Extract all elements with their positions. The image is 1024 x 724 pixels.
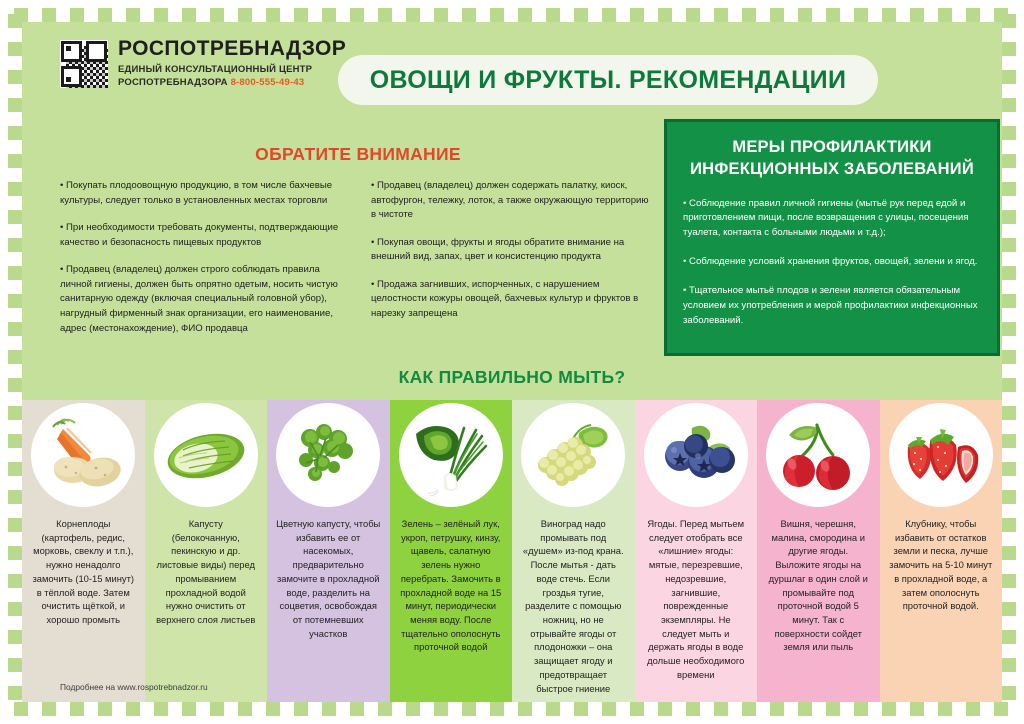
attention-heading: ОБРАТИТЕ ВНИМАНИЕ bbox=[60, 144, 656, 165]
attention-section: ОБРАТИТЕ ВНИМАНИЕ • Покупать плодоовощну… bbox=[60, 144, 656, 336]
qr-code-icon bbox=[60, 40, 108, 88]
poster-inner: РОСПОТРЕБНАДЗОР ЕДИНЫЙ КОНСУЛЬТАЦИОННЫЙ … bbox=[22, 22, 1002, 702]
brand-subtitle-line1: ЕДИНЫЙ КОНСУЛЬТАЦИОННЫЙ ЦЕНТР bbox=[118, 64, 346, 77]
logo-block: РОСПОТРЕБНАДЗОР ЕДИНЫЙ КОНСУЛЬТАЦИОННЫЙ … bbox=[60, 38, 346, 90]
wash-card-text: Вишня, черешня, малина, смородина и друг… bbox=[757, 517, 880, 654]
wash-card-text: Корнеплоды (картофель, редис, морковь, с… bbox=[22, 517, 145, 627]
prevention-bullet: • Тщательное мытьё плодов и зелени являе… bbox=[683, 284, 981, 329]
cherries-icon bbox=[766, 403, 870, 507]
wash-card-text: Ягоды. Перед мытьем следует отобрать все… bbox=[635, 517, 758, 682]
attention-right-column: • Продавец (владелец) должен содержать п… bbox=[371, 179, 656, 336]
wash-card-cabbage: Капусту (белокочанную, пекинскую и др. л… bbox=[145, 400, 268, 702]
attention-bullet: • Покупая овощи, фрукты и ягоды обратите… bbox=[371, 236, 656, 265]
attention-left-column: • Покупать плодоовощную продукцию, в том… bbox=[60, 179, 345, 336]
header: РОСПОТРЕБНАДЗОР ЕДИНЫЙ КОНСУЛЬТАЦИОННЫЙ … bbox=[22, 22, 1002, 114]
prevention-box: МЕРЫ ПРОФИЛАКТИКИ ИНФЕКЦИОННЫХ ЗАБОЛЕВАН… bbox=[664, 119, 1000, 356]
brand-text: РОСПОТРЕБНАДЗОР ЕДИНЫЙ КОНСУЛЬТАЦИОННЫЙ … bbox=[118, 38, 346, 90]
grapes-icon bbox=[521, 403, 625, 507]
frame-left-border bbox=[8, 14, 22, 710]
poster-root: РОСПОТРЕБНАДЗОР ЕДИНЫЙ КОНСУЛЬТАЦИОННЫЙ … bbox=[0, 0, 1024, 724]
brand-subtitle-line2: РОСПОТРЕБНАДЗОРА 8-800-555-49-43 bbox=[118, 77, 346, 90]
attention-bullet: • Продажа загнивших, испорченных, с нару… bbox=[371, 278, 656, 322]
wash-card-cherries: Вишня, черешня, малина, смородина и друг… bbox=[757, 400, 880, 702]
prevention-bullet: • Соблюдение правил личной гигиены (мыть… bbox=[683, 197, 981, 242]
prevention-heading-line1: МЕРЫ ПРОФИЛАКТИКИ bbox=[732, 138, 931, 156]
strawberries-icon bbox=[889, 403, 993, 507]
attention-bullet: • Продавец (владелец) должен строго собл… bbox=[60, 263, 345, 336]
frame-bottom-border bbox=[14, 702, 1010, 716]
wash-card-cauliflower: Цветную капусту, чтобы избавить ее от на… bbox=[267, 400, 390, 702]
wash-cards: Корнеплоды (картофель, редис, морковь, с… bbox=[22, 400, 1002, 702]
green-onion-herbs-icon bbox=[399, 403, 503, 507]
wash-card-text: Виноград надо промывать под «душем» из-п… bbox=[512, 517, 635, 695]
attention-bullet: • Продавец (владелец) должен содержать п… bbox=[371, 179, 656, 223]
wash-card-grapes: Виноград надо промывать под «душем» из-п… bbox=[512, 400, 635, 702]
prevention-heading: МЕРЫ ПРОФИЛАКТИКИ ИНФЕКЦИОННЫХ ЗАБОЛЕВАН… bbox=[683, 136, 981, 181]
attention-bullet: • Покупать плодоовощную продукцию, в том… bbox=[60, 179, 345, 208]
page-title: ОВОЩИ И ФРУКТЫ. РЕКОМЕНДАЦИИ bbox=[338, 55, 878, 105]
wash-card-text: Цветную капусту, чтобы избавить ее от на… bbox=[267, 517, 390, 640]
wash-card-text: Клубнику, чтобы избавить от остатков зем… bbox=[880, 517, 1003, 613]
wash-card-berries: Ягоды. Перед мытьем следует отобрать все… bbox=[635, 400, 758, 702]
prevention-heading-line2: ИНФЕКЦИОННЫХ ЗАБОЛЕВАНИЙ bbox=[690, 160, 974, 178]
attention-bullet: • При необходимости требовать документы,… bbox=[60, 221, 345, 250]
wash-card-text: Капусту (белокочанную, пекинскую и др. л… bbox=[145, 517, 268, 627]
cauliflower-greens-icon bbox=[276, 403, 380, 507]
wash-card-greens: Зелень – зелёный лук, укроп, петрушку, к… bbox=[390, 400, 513, 702]
wash-card-strawberries: Клубнику, чтобы избавить от остатков зем… bbox=[880, 400, 1003, 702]
potatoes-carrots-icon bbox=[31, 403, 135, 507]
hotline-phone[interactable]: 8-800-555-49-43 bbox=[231, 77, 305, 88]
chinese-cabbage-icon bbox=[154, 403, 258, 507]
frame-top-border bbox=[14, 8, 1010, 22]
brand-name: РОСПОТРЕБНАДЗОР bbox=[118, 38, 346, 60]
footer-note[interactable]: Подробнее на www.rospotrebnadzor.ru bbox=[60, 682, 208, 692]
page-title-text: ОВОЩИ И ФРУКТЫ. РЕКОМЕНДАЦИИ bbox=[370, 66, 846, 95]
blueberries-icon bbox=[644, 403, 748, 507]
frame-right-border bbox=[1002, 14, 1016, 710]
wash-card-root-vegetables: Корнеплоды (картофель, редис, морковь, с… bbox=[22, 400, 145, 702]
wash-card-text: Зелень – зелёный лук, укроп, петрушку, к… bbox=[390, 517, 513, 654]
brand-subtitle: ЕДИНЫЙ КОНСУЛЬТАЦИОННЫЙ ЦЕНТР РОСПОТРЕБН… bbox=[118, 64, 346, 90]
prevention-bullet: • Соблюдение условий хранения фруктов, о… bbox=[683, 255, 981, 270]
wash-heading: КАК ПРАВИЛЬНО МЫТЬ? bbox=[22, 367, 1002, 388]
